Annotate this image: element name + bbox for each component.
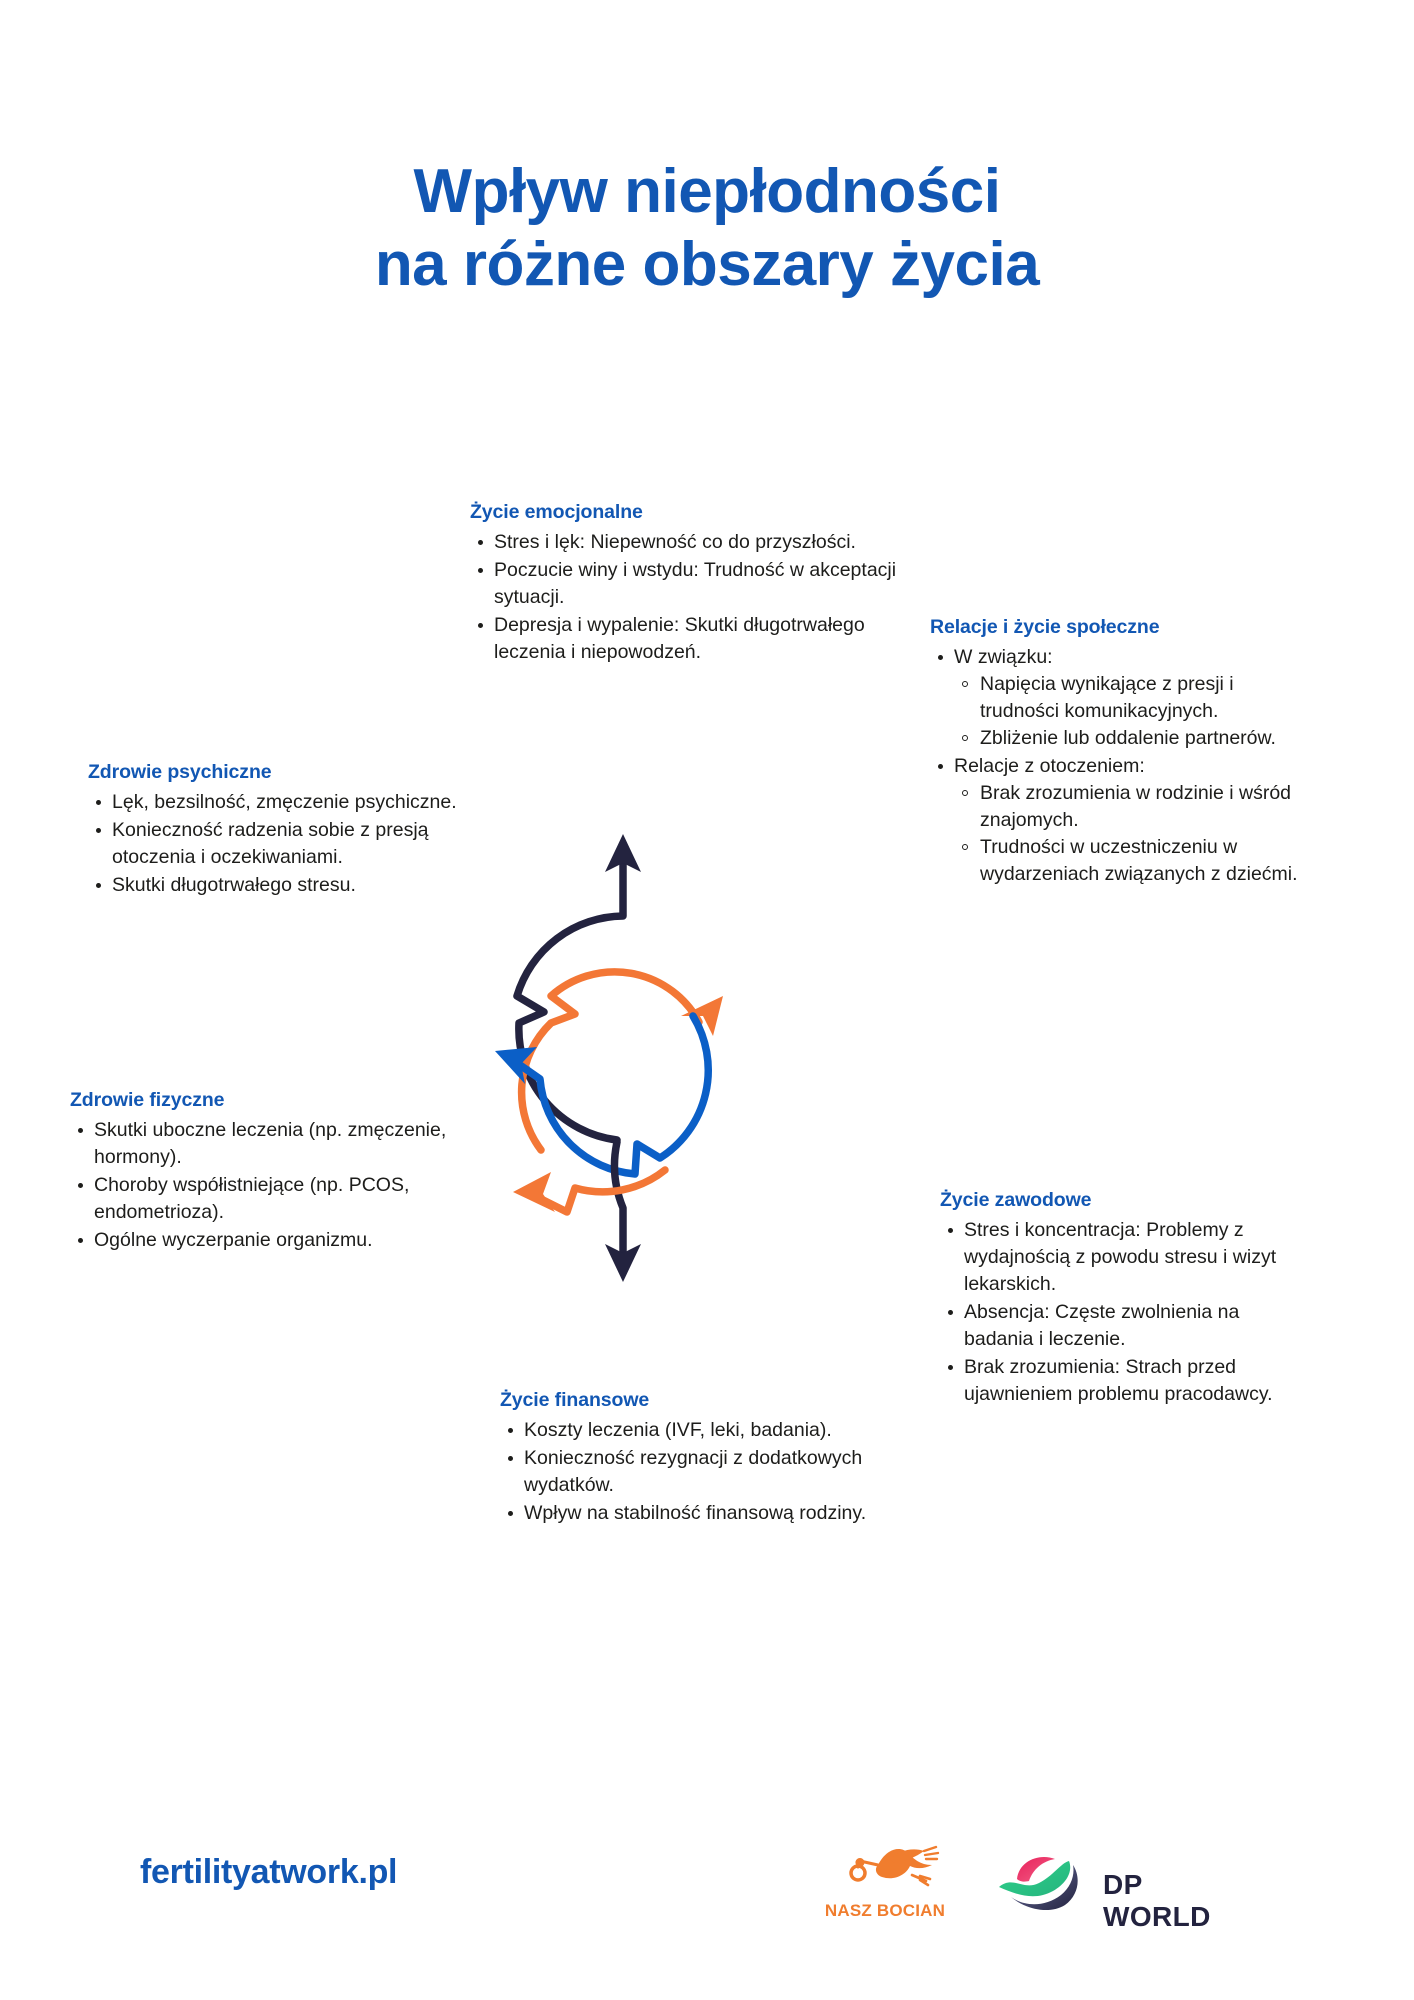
- nasz-bocian-logo[interactable]: NASZ BOCIAN: [820, 1835, 950, 1931]
- sublist-item: Napięcia wynikające z presji i trudności…: [954, 671, 1310, 725]
- list-item: Lęk, bezsilność, zmęczenie psychiczne.: [88, 789, 473, 816]
- poster-canvas: Wpływ niepłodności na różne obszary życi…: [0, 0, 1414, 2000]
- dp-world-logo[interactable]: DP WORLD: [995, 1849, 1255, 1919]
- list-item: Absencja: Częste zwolnienia na badania i…: [940, 1299, 1310, 1353]
- list-item-text: Poczucie winy i wstydu: Trudność w akcep…: [494, 557, 900, 611]
- dp-world-wordmark: DP WORLD: [1103, 1869, 1255, 1933]
- list-zycie-finansowe: Koszty leczenia (IVF, leki, badania). Ko…: [500, 1417, 880, 1527]
- sublist-item-text: Brak zrozumienia w rodzinie i wśród znaj…: [980, 782, 1291, 831]
- sublist-relacje-z-otoczeniem: Brak zrozumienia w rodzinie i wśród znaj…: [954, 780, 1310, 888]
- list-item-text: Ogólne wyczerpanie organizmu.: [94, 1227, 470, 1254]
- list-zdrowie-psychiczne: Lęk, bezsilność, zmęczenie psychiczne. K…: [88, 789, 473, 899]
- list-item: Konieczność rezygnacji z dodatkowych wyd…: [500, 1445, 880, 1499]
- orange-down-arrow-head: [513, 1172, 555, 1212]
- list-item-text: Konieczność rezygnacji z dodatkowych wyd…: [524, 1445, 880, 1499]
- sublist-item: Brak zrozumienia w rodzinie i wśród znaj…: [954, 780, 1310, 834]
- list-zycie-zawodowe: Stres i koncentracja: Problemy z wydajno…: [940, 1217, 1310, 1407]
- list-item: Depresja i wypalenie: Skutki długotrwałe…: [470, 612, 900, 666]
- list-item: Relacje z otoczeniem: Brak zrozumienia w…: [930, 753, 1310, 888]
- cycle-diagram: .arcline { fill: none; stroke-width: 7.5…: [455, 820, 775, 1330]
- nasz-bocian-wordmark: NASZ BOCIAN: [820, 1901, 950, 1921]
- page-title: Wpływ niepłodności na różne obszary życi…: [0, 155, 1414, 301]
- section-zycie-emocjonalne: Życie emocjonalne Stres i lęk: Niepewnoś…: [470, 500, 900, 666]
- site-url[interactable]: fertilityatwork.pl: [140, 1853, 397, 1892]
- list-item-text: Wpływ na stabilność finansową rodziny.: [524, 1500, 880, 1527]
- footer: fertilityatwork.pl: [0, 1835, 1414, 1945]
- list-item: Brak zrozumienia: Strach przed ujawnieni…: [940, 1354, 1310, 1408]
- sublist-w-zwiazku: Napięcia wynikające z presji i trudności…: [954, 671, 1310, 752]
- list-item: Koszty leczenia (IVF, leki, badania).: [500, 1417, 880, 1444]
- list-item: Konieczność radzenia sobie z presją otoc…: [88, 817, 473, 871]
- list-item-text: Absencja: Częste zwolnienia na badania i…: [964, 1299, 1310, 1353]
- list-item-text: Choroby współistniejące (np. PCOS, endom…: [94, 1172, 470, 1226]
- page-title-line-1: Wpływ niepłodności: [0, 155, 1414, 228]
- list-zycie-emocjonalne: Stres i lęk: Niepewność co do przyszłośc…: [470, 529, 900, 666]
- list-item-text: Stres i lęk: Niepewność co do przyszłośc…: [494, 529, 900, 556]
- page-title-line-2: na różne obszary życia: [0, 228, 1414, 301]
- list-item: W związku: Napięcia wynikające z presji …: [930, 644, 1310, 752]
- list-item: Skutki długotrwałego stresu.: [88, 872, 473, 899]
- section-zdrowie-fizyczne: Zdrowie fizyczne Skutki uboczne leczenia…: [70, 1088, 470, 1254]
- list-item-text: Depresja i wypalenie: Skutki długotrwałe…: [494, 612, 900, 666]
- list-item: Stres i koncentracja: Problemy z wydajno…: [940, 1217, 1310, 1298]
- section-zycie-finansowe: Życie finansowe Koszty leczenia (IVF, le…: [500, 1388, 880, 1527]
- list-item-text: W związku:: [954, 644, 1310, 671]
- list-item: Skutki uboczne leczenia (np. zmęczenie, …: [70, 1117, 470, 1171]
- list-item: Stres i lęk: Niepewność co do przyszłośc…: [470, 529, 900, 556]
- section-heading-zycie-emocjonalne: Życie emocjonalne: [470, 500, 900, 525]
- list-item-text: Brak zrozumienia: Strach przed ujawnieni…: [964, 1354, 1310, 1408]
- sublist-item-text: Zbliżenie lub oddalenie partnerów.: [980, 727, 1276, 749]
- list-item-text: Skutki uboczne leczenia (np. zmęczenie, …: [94, 1117, 470, 1171]
- sublist-item-text: Trudności w uczestniczeniu w wydarzeniac…: [980, 836, 1298, 885]
- list-relacje: W związku: Napięcia wynikające z presji …: [930, 644, 1310, 887]
- sublist-item: Trudności w uczestniczeniu w wydarzeniac…: [954, 834, 1310, 888]
- section-heading-zdrowie-fizyczne: Zdrowie fizyczne: [70, 1088, 470, 1113]
- section-zycie-zawodowe: Życie zawodowe Stres i koncentracja: Pro…: [940, 1188, 1310, 1408]
- sublist-item: Zbliżenie lub oddalenie partnerów.: [954, 725, 1310, 752]
- list-item: Wpływ na stabilność finansową rodziny.: [500, 1500, 880, 1527]
- section-heading-zdrowie-psychiczne: Zdrowie psychiczne: [88, 760, 473, 785]
- list-item: Ogólne wyczerpanie organizmu.: [70, 1227, 470, 1254]
- section-heading-zycie-finansowe: Życie finansowe: [500, 1388, 880, 1413]
- list-item-text: Konieczność radzenia sobie z presją otoc…: [112, 817, 473, 871]
- section-heading-zycie-zawodowe: Życie zawodowe: [940, 1188, 1310, 1213]
- sublist-item-text: Napięcia wynikające z presji i trudności…: [980, 673, 1234, 722]
- orange-down-arrow: [513, 1170, 665, 1212]
- list-zdrowie-fizyczne: Skutki uboczne leczenia (np. zmęczenie, …: [70, 1117, 470, 1254]
- list-item: Choroby współistniejące (np. PCOS, endom…: [70, 1172, 470, 1226]
- section-relacje-i-zycie-spoleczne: Relacje i życie społeczne W związku: Nap…: [930, 615, 1310, 888]
- navy-arc: [517, 834, 641, 1140]
- list-item-text: Koszty leczenia (IVF, leki, badania).: [524, 1417, 880, 1444]
- section-heading-relacje-i-zycie-spoleczne: Relacje i życie społeczne: [930, 615, 1310, 640]
- blue-arc: [495, 1016, 708, 1174]
- list-item: Poczucie winy i wstydu: Trudność w akcep…: [470, 557, 900, 611]
- list-item-text: Stres i koncentracja: Problemy z wydajno…: [964, 1217, 1310, 1298]
- list-item-text: Skutki długotrwałego stresu.: [112, 872, 473, 899]
- list-item-text: Lęk, bezsilność, zmęczenie psychiczne.: [112, 789, 473, 816]
- dp-world-mark-icon: [995, 1849, 1095, 1917]
- list-item-text: Relacje z otoczeniem:: [954, 753, 1310, 780]
- section-zdrowie-psychiczne: Zdrowie psychiczne Lęk, bezsilność, zmęc…: [88, 760, 473, 899]
- stork-icon: [820, 1835, 950, 1905]
